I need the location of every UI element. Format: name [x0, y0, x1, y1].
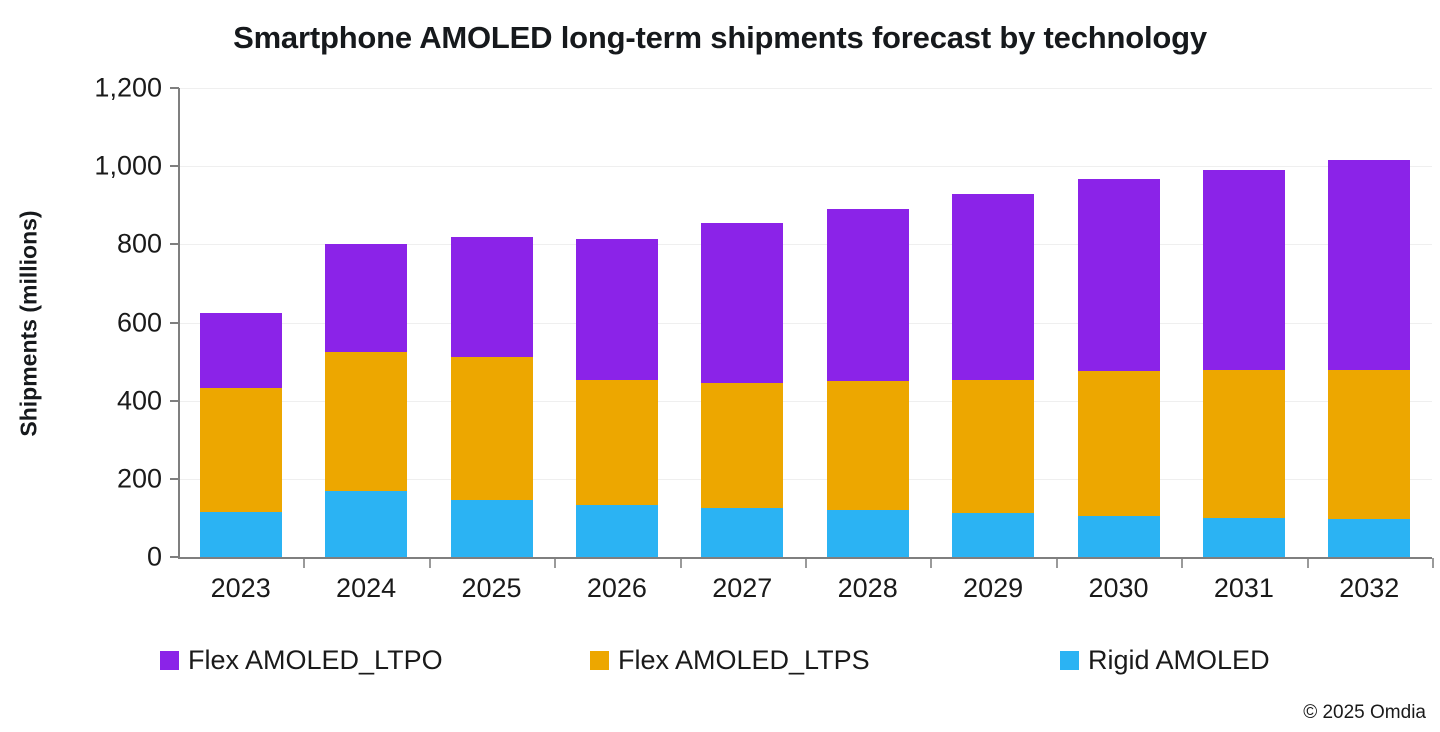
x-tick-mark — [1432, 558, 1434, 568]
x-tick-label: 2031 — [1214, 573, 1274, 604]
x-tick-mark — [1307, 558, 1309, 568]
y-tick-label: 600 — [117, 307, 162, 338]
y-tick-label: 200 — [117, 463, 162, 494]
bar-segment[interactable] — [1328, 370, 1410, 519]
x-tick-label: 2026 — [587, 573, 647, 604]
legend-label: Rigid AMOLED — [1088, 647, 1270, 674]
copyright-footer: © 2025 Omdia — [1303, 702, 1426, 724]
x-tick-mark — [1181, 558, 1183, 568]
bar-segment[interactable] — [827, 381, 909, 510]
bar-segment[interactable] — [952, 513, 1034, 557]
legend-swatch-icon — [590, 651, 609, 670]
y-tick-label: 1,000 — [94, 151, 162, 182]
bar-column[interactable] — [325, 88, 407, 557]
x-tick-label: 2029 — [963, 573, 1023, 604]
legend-item[interactable]: Rigid AMOLED — [1060, 641, 1270, 679]
legend-item[interactable]: Flex AMOLED_LTPO — [160, 641, 443, 679]
x-tick-label: 2024 — [336, 573, 396, 604]
bar-segment[interactable] — [1203, 170, 1285, 370]
bar-segment[interactable] — [200, 388, 282, 512]
x-tick-label: 2030 — [1088, 573, 1148, 604]
x-tick-mark — [554, 558, 556, 568]
legend-label: Flex AMOLED_LTPS — [618, 647, 870, 674]
chart-title: Smartphone AMOLED long-term shipments fo… — [0, 20, 1440, 56]
bar-segment[interactable] — [576, 380, 658, 505]
bar-segment[interactable] — [1328, 160, 1410, 370]
x-tick-mark — [930, 558, 932, 568]
bar-column[interactable] — [1078, 88, 1160, 557]
chart-container: Smartphone AMOLED long-term shipments fo… — [0, 0, 1440, 732]
bar-column[interactable] — [1203, 88, 1285, 557]
bar-segment[interactable] — [325, 352, 407, 491]
bar-segment[interactable] — [827, 209, 909, 381]
legend-swatch-icon — [1060, 651, 1079, 670]
bar-segment[interactable] — [1078, 371, 1160, 516]
bar-segment[interactable] — [1078, 179, 1160, 371]
bar-segment[interactable] — [200, 313, 282, 388]
bar-column[interactable] — [952, 88, 1034, 557]
x-tick-mark — [680, 558, 682, 568]
legend-swatch-icon — [160, 651, 179, 670]
bar-segment[interactable] — [701, 508, 783, 557]
y-axis-title-wrapper: Shipments (millions) — [6, 88, 52, 558]
x-tick-mark — [1056, 558, 1058, 568]
bar-segment[interactable] — [827, 510, 909, 557]
bar-column[interactable] — [451, 88, 533, 557]
bar-segment[interactable] — [952, 194, 1034, 380]
x-tick-label: 2028 — [838, 573, 898, 604]
bar-segment[interactable] — [325, 491, 407, 557]
bar-segment[interactable] — [701, 383, 783, 508]
bar-segment[interactable] — [451, 357, 533, 500]
x-tick-label: 2032 — [1339, 573, 1399, 604]
x-tick-label: 2025 — [461, 573, 521, 604]
bar-segment[interactable] — [1203, 518, 1285, 557]
x-tick-mark — [429, 558, 431, 568]
bar-segment[interactable] — [576, 239, 658, 380]
y-tick-label: 0 — [147, 542, 162, 573]
bar-column[interactable] — [701, 88, 783, 557]
bar-column[interactable] — [1328, 88, 1410, 557]
legend-label: Flex AMOLED_LTPO — [188, 647, 443, 674]
legend-item[interactable]: Flex AMOLED_LTPS — [590, 641, 870, 679]
bar-column[interactable] — [827, 88, 909, 557]
x-axis-line — [178, 557, 1432, 559]
bar-segment[interactable] — [451, 237, 533, 357]
y-axis-title: Shipments (millions) — [16, 210, 43, 436]
y-tick-label: 800 — [117, 229, 162, 260]
x-tick-mark — [303, 558, 305, 568]
bar-segment[interactable] — [451, 500, 533, 557]
x-tick-label: 2023 — [211, 573, 271, 604]
y-tick-label: 1,200 — [94, 73, 162, 104]
bar-segment[interactable] — [701, 223, 783, 383]
bar-segment[interactable] — [1203, 370, 1285, 518]
bar-segment[interactable] — [1328, 519, 1410, 557]
y-tick-label: 400 — [117, 385, 162, 416]
bar-segment[interactable] — [952, 380, 1034, 513]
bar-segment[interactable] — [1078, 516, 1160, 557]
bar-column[interactable] — [576, 88, 658, 557]
bar-segment[interactable] — [325, 244, 407, 352]
x-tick-label: 2027 — [712, 573, 772, 604]
bar-segment[interactable] — [200, 512, 282, 557]
chart-legend: Flex AMOLED_LTPOFlex AMOLED_LTPSRigid AM… — [160, 641, 1340, 679]
bar-column[interactable] — [200, 88, 282, 557]
bar-segment[interactable] — [576, 505, 658, 557]
plot-area — [178, 88, 1432, 557]
x-tick-mark — [805, 558, 807, 568]
